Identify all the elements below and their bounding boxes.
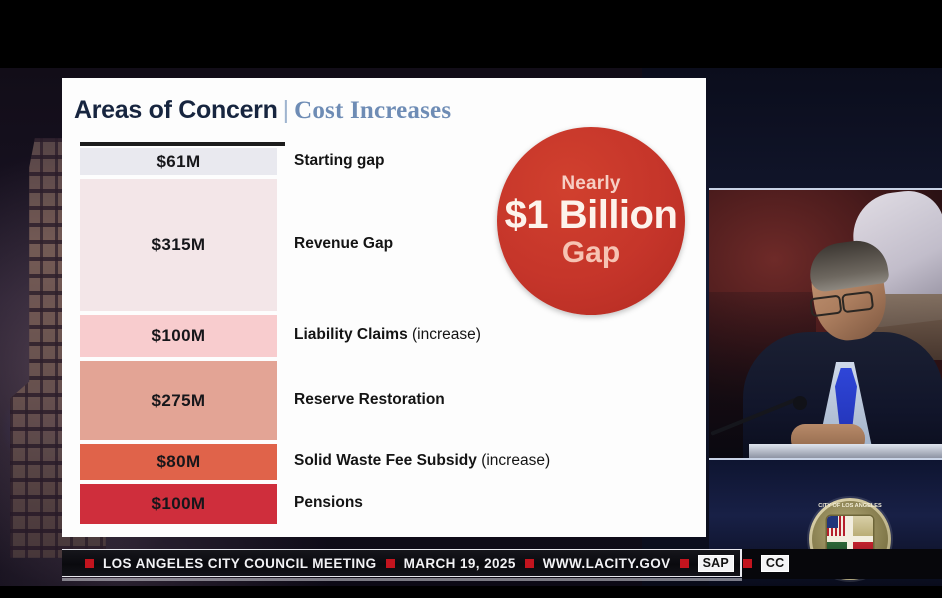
slide-title: Areas of Concern|Cost Increases — [74, 96, 451, 125]
chart-bar-label: Reserve Restoration — [294, 391, 445, 409]
presentation-slide: Areas of Concern|Cost Increases $61MStar… — [62, 78, 706, 537]
microphone-head — [793, 396, 807, 410]
chart-bar-value: $61M — [156, 152, 200, 172]
chart-bar-value: $100M — [152, 326, 206, 346]
chart-bar: $100M — [80, 484, 277, 524]
seal-top-text: CITY OF LOS ANGELES — [809, 503, 891, 509]
chart-bar-label: Revenue Gap — [294, 235, 393, 253]
ticker-text: WWW.LACITY.GOV — [543, 556, 671, 571]
badge-line-amount: $1 Billion — [505, 195, 678, 236]
badge-line-nearly: Nearly — [561, 174, 620, 193]
lower-third-ticker: LOS ANGELES CITY COUNCIL MEETINGMARCH 19… — [62, 549, 742, 577]
ticker-separator-icon — [386, 559, 395, 568]
chart-bar-value: $100M — [152, 494, 206, 514]
chart-bar: $80M — [80, 444, 277, 480]
ticker-separator-icon — [743, 559, 752, 568]
ticker-text: MARCH 19, 2025 — [404, 556, 516, 571]
one-billion-gap-badge: Nearly $1 Billion Gap — [497, 127, 685, 315]
ticker-separator-icon — [85, 559, 94, 568]
badge-line-gap: Gap — [562, 237, 620, 269]
chart-bar: $61M — [80, 148, 277, 175]
chart-bar-value: $315M — [152, 235, 206, 255]
broadcast-stage: Areas of Concern|Cost Increases $61MStar… — [0, 0, 942, 598]
slide-title-main: Areas of Concern — [74, 96, 278, 124]
chart-bar-value: $80M — [156, 452, 200, 472]
chart-bar-label: Starting gap — [294, 152, 384, 170]
letterbox-bottom-bar — [0, 586, 942, 598]
speaker-desk — [749, 444, 942, 458]
chart-bar-value: $275M — [152, 391, 206, 411]
slide-title-sub: Cost Increases — [294, 97, 451, 124]
chart-bar-label: Liability Claims (increase) — [294, 326, 481, 344]
ticker-separator-icon — [525, 559, 534, 568]
ticker-text: LOS ANGELES CITY COUNCIL MEETING — [103, 556, 377, 571]
ticker-underline — [62, 578, 742, 581]
slide-title-divider: | — [283, 96, 290, 124]
chart-bar-label: Solid Waste Fee Subsidy (increase) — [294, 452, 550, 470]
chart-bar-label: Pensions — [294, 494, 363, 512]
ticker-separator-icon — [680, 559, 689, 568]
ticker-badge-cc[interactable]: CC — [761, 555, 789, 572]
chart-bar: $315M — [80, 179, 277, 311]
chart-bar: $100M — [80, 315, 277, 357]
ticker-badge-sap[interactable]: SAP — [698, 555, 734, 572]
chart-bar: $275M — [80, 361, 277, 440]
speaker-video-inset — [709, 188, 942, 460]
letterbox-top-bar — [0, 0, 942, 68]
